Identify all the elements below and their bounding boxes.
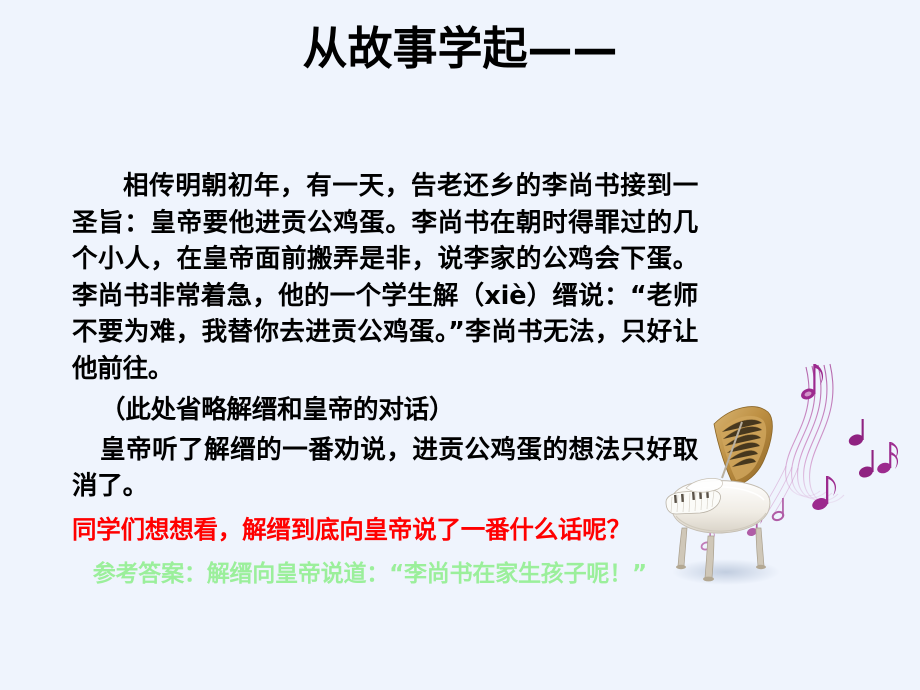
- music-note-icon: [746, 512, 763, 537]
- paragraph-omitted-note: （此处省略解缙和皇帝的对话）: [72, 392, 698, 429]
- music-note-icon: [876, 442, 898, 475]
- music-note-icon: [799, 364, 823, 401]
- music-note-icon: [847, 419, 865, 448]
- music-note-icon: [857, 450, 874, 479]
- music-staff-tail: [760, 466, 798, 517]
- decoration-group: [660, 350, 920, 600]
- page-title: 从故事学起——: [0, 22, 920, 76]
- piano-lid: [714, 407, 772, 486]
- music-staff-lines: [786, 364, 844, 503]
- music-note-icon: [772, 498, 785, 522]
- piano-prop-stick: [722, 422, 742, 478]
- paragraph-story-result: 皇帝听了解缙的一番劝说，进贡公鸡蛋的想法只好取消了。: [72, 432, 698, 505]
- piano-lid-inner: [720, 416, 766, 480]
- music-note-icon: [811, 476, 836, 512]
- music-note-icon-group: [701, 364, 899, 551]
- paragraph-question-prompt: 同学们想想看，解缙到底向皇帝说了一番什么话呢？: [72, 512, 698, 549]
- slide-canvas: 从故事学起—— 相传明朝初年，有一天，告老还乡的李尚书接到一圣旨：皇帝要他进贡公…: [0, 0, 920, 690]
- music-note-icon: [701, 530, 715, 551]
- paragraph-reference-answer: 参考答案：解缙向皇帝说道：“李尚书在家生孩子呢！”: [72, 556, 698, 593]
- piano-strings: [722, 420, 762, 467]
- paragraph-story: 相传明朝初年，有一天，告老还乡的李尚书接到一圣旨：皇帝要他进贡公鸡蛋。李尚书在朝…: [72, 168, 698, 387]
- body-text-block: 相传明朝初年，有一天，告老还乡的李尚书接到一圣旨：皇帝要他进贡公鸡蛋。李尚书在朝…: [72, 168, 698, 593]
